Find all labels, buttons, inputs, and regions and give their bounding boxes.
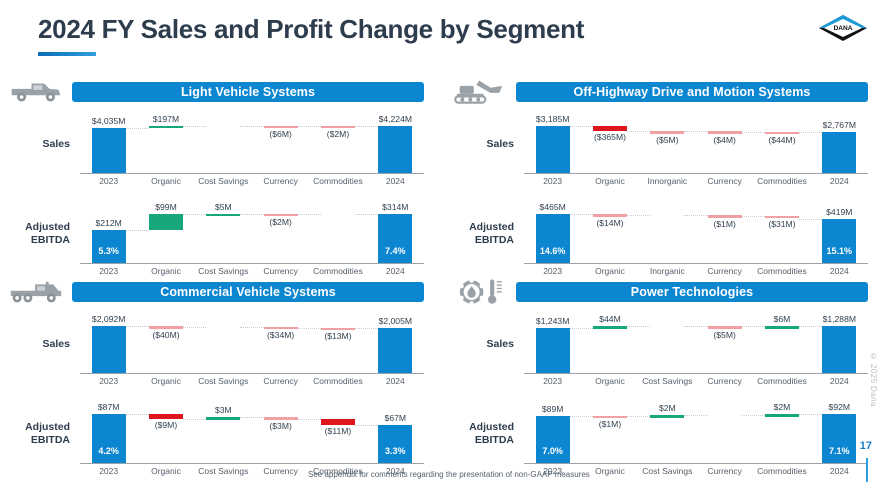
bar-value-label: $2M <box>659 403 676 413</box>
bar-value-label: $1,288M <box>823 314 856 324</box>
svg-text:DANA: DANA <box>834 25 853 32</box>
margin-percent-label: 14.6% <box>540 246 566 256</box>
chart-column: $2,005M <box>367 302 424 387</box>
bar-value-label: $2,092M <box>92 314 125 324</box>
bridge-connector <box>570 328 593 329</box>
increase-bar <box>765 326 799 329</box>
chart-column: $212M5.3% <box>80 190 137 277</box>
margin-percent-label: 5.3% <box>98 246 119 256</box>
total-bar <box>822 219 856 263</box>
total-bar <box>536 328 570 373</box>
bridge-connector <box>355 214 378 215</box>
margin-percent-label: 7.1% <box>829 446 850 456</box>
bar-value-label: $92M <box>829 402 851 412</box>
bridge-connector <box>742 132 765 133</box>
waterfall-plot: $3,185M($365M)($5M)($4M)($44M)$2,767M202… <box>524 102 868 187</box>
bridge-connector <box>742 216 765 217</box>
axis-tick-label: Commodities <box>753 176 810 186</box>
chart-column: $3,185M <box>524 102 581 187</box>
bar-value-label: $99M <box>155 202 177 212</box>
waterfall-chart-pt-sales: Sales$1,243M$44M($5M)$6M$1,288M2023Organ… <box>446 302 876 387</box>
page-title: 2024 FY Sales and Profit Change by Segme… <box>38 14 584 45</box>
chart-column: ($14M) <box>581 190 638 277</box>
chart-column <box>639 190 696 277</box>
decrease-bar <box>264 417 298 420</box>
chart-column: $92M7.1% <box>811 390 868 477</box>
bridge-connector <box>570 214 593 215</box>
bar-value-label: $44M <box>599 314 621 324</box>
bar-value-label: $6M <box>774 314 791 324</box>
row-label-adjusted-ebitda: AdjustedEBITDA <box>2 190 74 277</box>
segment-panel-power-technologies: Power TechnologiesSales$1,243M$44M($5M)$… <box>446 272 876 477</box>
bridge-connector <box>240 214 263 215</box>
axis-tick-label: Organic <box>581 176 638 186</box>
segment-panel-light-vehicle-systems: Light Vehicle SystemsSales$4,035M$197M($… <box>2 72 432 277</box>
axis-tick-label: 2024 <box>367 376 424 386</box>
increase-bar <box>593 326 627 329</box>
bar-value-label: ($1M) <box>713 219 735 229</box>
waterfall-chart-ohdms-sales: Sales$3,185M($365M)($5M)($4M)($44M)$2,76… <box>446 102 876 187</box>
axis-tick-label: 2023 <box>80 466 137 476</box>
chart-column: $99M <box>137 190 194 277</box>
increase-bar <box>149 214 183 229</box>
chart-columns: $87M4.2%($9M)$3M($3M)($11M)$67M3.3% <box>80 390 424 477</box>
bar-value-label: $3,185M <box>536 114 569 124</box>
increase-bar <box>650 415 684 418</box>
chart-column: $67M3.3% <box>367 390 424 477</box>
bar-value-label: ($11M) <box>325 426 352 436</box>
bar-value-label: $2M <box>774 402 791 412</box>
chart-column: $3M <box>195 390 252 477</box>
bridge-connector <box>298 214 321 215</box>
bar-value-label: ($5M) <box>656 135 678 145</box>
bridge-connector <box>126 128 149 129</box>
decrease-bar <box>593 416 627 419</box>
bridge-connector <box>627 215 650 216</box>
bar-value-label: $197M <box>153 114 179 124</box>
chart-column: ($11M) <box>309 390 366 477</box>
chart-column: $6M <box>753 302 810 387</box>
bar-value-label: $314M <box>382 202 408 212</box>
decrease-bar <box>149 414 183 419</box>
total-bar <box>378 425 412 463</box>
axis-tick-label: Organic <box>137 376 194 386</box>
chart-column: ($5M) <box>639 102 696 187</box>
axis-tick-label: 2024 <box>811 376 868 386</box>
bar-value-label: ($6M) <box>269 129 291 139</box>
increase-bar <box>765 414 799 417</box>
waterfall-plot: $2,092M($40M)($34M)($13M)$2,005M2023Orga… <box>80 302 424 387</box>
increase-bar <box>149 126 183 129</box>
bridge-connector <box>570 126 593 127</box>
bridge-connector <box>126 326 149 327</box>
bridge-connector <box>799 219 822 220</box>
axis-tick-label: Currency <box>696 466 753 476</box>
waterfall-chart-pt-ebitda: AdjustedEBITDA$89M7.0%($1M)$2M$2M$92M7.1… <box>446 390 876 477</box>
row-label-sales: Sales <box>2 302 74 387</box>
chart-column: $4,224M <box>367 102 424 187</box>
total-bar <box>822 132 856 173</box>
decrease-bar <box>765 132 799 135</box>
waterfall-plot: $87M4.2%($9M)$3M($3M)($11M)$67M3.3%2023O… <box>80 390 424 477</box>
margin-percent-label: 7.4% <box>385 246 406 256</box>
bar-value-label: ($365M) <box>594 132 626 142</box>
bar-value-label: $212M <box>96 218 122 228</box>
axis-tick-label: Cost Savings <box>639 376 696 386</box>
increase-bar <box>206 417 240 420</box>
chart-column <box>195 102 252 187</box>
decrease-bar <box>264 214 298 217</box>
chart-column: $4,035M <box>80 102 137 187</box>
bar-value-label: $89M <box>542 404 564 414</box>
bridge-connector <box>183 126 206 127</box>
chart-column: ($1M) <box>696 190 753 277</box>
chart-columns: $89M7.0%($1M)$2M$2M$92M7.1% <box>524 390 868 477</box>
axis-tick-label: 2023 <box>524 376 581 386</box>
axis-tick-label: Organic <box>137 466 194 476</box>
bar-value-label: ($34M) <box>267 330 294 340</box>
axis-tick-label: Commodities <box>309 176 366 186</box>
decrease-bar <box>149 326 183 329</box>
chart-column: $465M14.6% <box>524 190 581 277</box>
row-label-sales: Sales <box>446 302 518 387</box>
chart-column: ($40M) <box>137 302 194 387</box>
axis-tick-label: Cost Savings <box>195 176 252 186</box>
bar-value-label: ($5M) <box>713 330 735 340</box>
chart-column: $5M <box>195 190 252 277</box>
bridge-connector <box>355 126 378 127</box>
decrease-bar <box>650 131 684 134</box>
total-bar <box>378 328 412 373</box>
decrease-bar <box>264 327 298 330</box>
chart-columns: $2,092M($40M)($34M)($13M)$2,005M <box>80 302 424 387</box>
bar-value-label: $4,035M <box>92 116 125 126</box>
axis-tick-label: Commodities <box>309 376 366 386</box>
chart-column: $1,288M <box>811 302 868 387</box>
bar-value-label: ($4M) <box>713 135 735 145</box>
axis-tick-label: 2023 <box>80 376 137 386</box>
bridge-connector <box>183 419 206 420</box>
total-bar <box>536 126 570 173</box>
chart-column: ($4M) <box>696 102 753 187</box>
chart-column: $2,767M <box>811 102 868 187</box>
waterfall-plot: $4,035M$197M($6M)($2M)$4,224M2023Organic… <box>80 102 424 187</box>
copyright-text: © 2025 Dana <box>869 352 878 407</box>
axis-tick-label: Cost Savings <box>195 376 252 386</box>
axis-tick-label: Currency <box>696 376 753 386</box>
axis-tick-label: 2024 <box>811 176 868 186</box>
bar-value-label: ($2M) <box>269 217 291 227</box>
margin-percent-label: 7.0% <box>542 446 563 456</box>
decrease-bar <box>708 131 742 134</box>
bar-value-label: $1,243M <box>536 316 569 326</box>
chart-columns: $212M5.3%$99M$5M($2M)$314M7.4% <box>80 190 424 277</box>
chart-column: $314M7.4% <box>367 190 424 277</box>
bridge-connector <box>570 416 593 417</box>
chart-column: ($9M) <box>137 390 194 477</box>
waterfall-plot: $1,243M$44M($5M)$6M$1,288M2023OrganicCos… <box>524 302 868 387</box>
chart-column: ($44M) <box>753 102 810 187</box>
waterfall-plot: $212M5.3%$99M$5M($2M)$314M7.4%2023Organi… <box>80 190 424 277</box>
decrease-bar <box>593 126 627 131</box>
bar-value-label: ($3M) <box>269 421 291 431</box>
chart-column: $89M7.0% <box>524 390 581 477</box>
chart-column: $197M <box>137 102 194 187</box>
bridge-connector <box>355 328 378 329</box>
title-underline-rule <box>38 52 96 56</box>
increase-bar <box>206 214 240 217</box>
bar-value-label: $2,767M <box>823 120 856 130</box>
bridge-connector <box>126 414 149 415</box>
chart-column: $87M4.2% <box>80 390 137 477</box>
chart-column: ($13M) <box>309 302 366 387</box>
axis-tick-label: Cost Savings <box>195 466 252 476</box>
axis-tick-label: Currency <box>696 176 753 186</box>
decrease-bar <box>321 126 355 129</box>
slide: 2024 FY Sales and Profit Change by Segme… <box>0 0 880 495</box>
axis-tick-label: 2023 <box>524 176 581 186</box>
bridge-connector <box>799 326 822 327</box>
bridge-connector <box>183 327 206 328</box>
dana-logo: DANA <box>818 14 868 42</box>
row-label-sales: Sales <box>2 102 74 187</box>
bridge-connector <box>627 416 650 417</box>
total-bar <box>92 128 126 173</box>
axis-tick-label: Innorganic <box>639 176 696 186</box>
row-label-adjusted-ebitda: AdjustedEBITDA <box>446 190 518 277</box>
segment-title-banner: Commercial Vehicle Systems <box>72 282 424 302</box>
bridge-connector <box>240 417 263 418</box>
bar-value-label: ($44M) <box>768 135 795 145</box>
chart-column <box>639 302 696 387</box>
bridge-connector <box>298 126 321 127</box>
chart-column: ($365M) <box>581 102 638 187</box>
bar-value-label: ($31M) <box>768 219 795 229</box>
segment-title-banner: Off-Highway Drive and Motion Systems <box>516 82 868 102</box>
segment-title-banner: Power Technologies <box>516 282 868 302</box>
segment-title-banner: Light Vehicle Systems <box>72 82 424 102</box>
chart-category-axis: 2023OrganicCost SavingsCurrencyCommoditi… <box>80 176 424 186</box>
chart-column: ($34M) <box>252 302 309 387</box>
chart-column: $44M <box>581 302 638 387</box>
chart-column: ($1M) <box>581 390 638 477</box>
axis-tick-label: Currency <box>252 176 309 186</box>
decrease-bar <box>593 214 627 217</box>
bridge-connector <box>742 326 765 327</box>
chart-column <box>309 190 366 277</box>
waterfall-chart-lvs-sales: Sales$4,035M$197M($6M)($2M)$4,224M2023Or… <box>2 102 432 187</box>
axis-tick-label: Cost Savings <box>639 466 696 476</box>
decrease-bar <box>708 215 742 218</box>
chart-column: $1,243M <box>524 302 581 387</box>
bar-value-label: $2,005M <box>379 316 412 326</box>
bridge-connector <box>240 327 263 328</box>
bridge-connector <box>684 131 707 132</box>
bridge-connector <box>627 131 650 132</box>
decrease-bar <box>321 328 355 331</box>
chart-column: ($5M) <box>696 302 753 387</box>
axis-tick-label: 2024 <box>811 466 868 476</box>
bar-value-label: ($1M) <box>599 419 621 429</box>
bar-value-label: $67M <box>385 413 407 423</box>
bar-value-label: $5M <box>215 202 232 212</box>
axis-tick-label: Organic <box>137 176 194 186</box>
bridge-connector <box>684 415 707 416</box>
waterfall-chart-cvs-ebitda: AdjustedEBITDA$87M4.2%($9M)$3M($3M)($11M… <box>2 390 432 477</box>
axis-tick-label: Currency <box>252 376 309 386</box>
axis-tick-label: Organic <box>581 466 638 476</box>
bridge-connector <box>627 326 650 327</box>
chart-category-axis: 2023OrganicCost SavingsCurrencyCommoditi… <box>80 376 424 386</box>
chart-column: ($6M) <box>252 102 309 187</box>
bar-value-label: $87M <box>98 402 120 412</box>
axis-tick-label: Organic <box>581 376 638 386</box>
total-bar <box>92 326 126 373</box>
waterfall-chart-lvs-ebitda: AdjustedEBITDA$212M5.3%$99M$5M($2M)$314M… <box>2 190 432 277</box>
chart-column: ($31M) <box>753 190 810 277</box>
bar-value-label: $4,224M <box>379 114 412 124</box>
bridge-connector <box>298 419 321 420</box>
bridge-connector <box>799 414 822 415</box>
bridge-connector <box>183 214 206 215</box>
bridge-connector <box>355 425 378 426</box>
chart-columns: $4,035M$197M($6M)($2M)$4,224M <box>80 102 424 187</box>
bridge-connector <box>684 215 707 216</box>
waterfall-plot: $465M14.6%($14M)($1M)($31M)$419M15.1%202… <box>524 190 868 277</box>
chart-columns: $465M14.6%($14M)($1M)($31M)$419M15.1% <box>524 190 868 277</box>
axis-tick-label: Currency <box>252 466 309 476</box>
page-number: 17 <box>860 440 872 452</box>
waterfall-plot: $89M7.0%($1M)$2M$2M$92M7.1%2023OrganicCo… <box>524 390 868 477</box>
chart-column: $2M <box>639 390 696 477</box>
segment-panel-commercial-vehicle-systems: Commercial Vehicle SystemsSales$2,092M($… <box>2 272 432 477</box>
chart-column: ($2M) <box>309 102 366 187</box>
bridge-connector <box>684 326 707 327</box>
bar-value-label: ($13M) <box>324 331 351 341</box>
bar-value-label: $419M <box>826 207 852 217</box>
bar-value-label: $3M <box>215 405 232 415</box>
axis-tick-label: 2023 <box>80 176 137 186</box>
chart-column: ($3M) <box>252 390 309 477</box>
chart-category-axis: 2023OrganicCost SavingsCurrencyCommoditi… <box>524 376 868 386</box>
margin-percent-label: 4.2% <box>98 446 119 456</box>
row-label-adjusted-ebitda: AdjustedEBITDA <box>446 390 518 477</box>
axis-tick-label: Commodities <box>753 466 810 476</box>
chart-column: $2M <box>753 390 810 477</box>
axis-tick-label: 2024 <box>367 176 424 186</box>
chart-column: $419M15.1% <box>811 190 868 277</box>
margin-percent-label: 3.3% <box>385 446 406 456</box>
bar-value-label: $465M <box>540 202 566 212</box>
bridge-connector <box>240 126 263 127</box>
chart-column <box>195 302 252 387</box>
margin-percent-label: 15.1% <box>827 246 853 256</box>
decrease-bar <box>708 326 742 329</box>
axis-tick-label: Commodities <box>753 376 810 386</box>
decrease-bar <box>765 216 799 219</box>
bridge-connector <box>298 328 321 329</box>
bridge-connector <box>742 415 765 416</box>
row-label-sales: Sales <box>446 102 518 187</box>
bar-value-label: ($14M) <box>596 218 623 228</box>
chart-columns: $3,185M($365M)($5M)($4M)($44M)$2,767M <box>524 102 868 187</box>
row-label-adjusted-ebitda: AdjustedEBITDA <box>2 390 74 477</box>
chart-column: $2,092M <box>80 302 137 387</box>
page-accent-rule <box>866 458 868 482</box>
bar-value-label: ($2M) <box>327 129 349 139</box>
chart-category-axis: 2023OrganicInnorganicCurrencyCommodities… <box>524 176 868 186</box>
decrease-bar <box>321 419 355 425</box>
total-bar <box>378 126 412 173</box>
waterfall-chart-ohdms-ebitda: AdjustedEBITDA$465M14.6%($14M)($1M)($31M… <box>446 190 876 277</box>
footnote: See appendix for comments regarding the … <box>308 470 590 479</box>
bridge-connector <box>799 132 822 133</box>
waterfall-chart-cvs-sales: Sales$2,092M($40M)($34M)($13M)$2,005M202… <box>2 302 432 387</box>
chart-columns: $1,243M$44M($5M)$6M$1,288M <box>524 302 868 387</box>
segment-panel-off-highway-drive-and-motion-systems: Off-Highway Drive and Motion SystemsSale… <box>446 72 876 277</box>
total-bar <box>822 326 856 373</box>
chart-column: ($2M) <box>252 190 309 277</box>
bar-value-label: ($40M) <box>152 330 179 340</box>
decrease-bar <box>264 126 298 129</box>
chart-column <box>696 390 753 477</box>
bar-value-label: ($9M) <box>155 420 177 430</box>
bridge-connector <box>126 230 149 231</box>
